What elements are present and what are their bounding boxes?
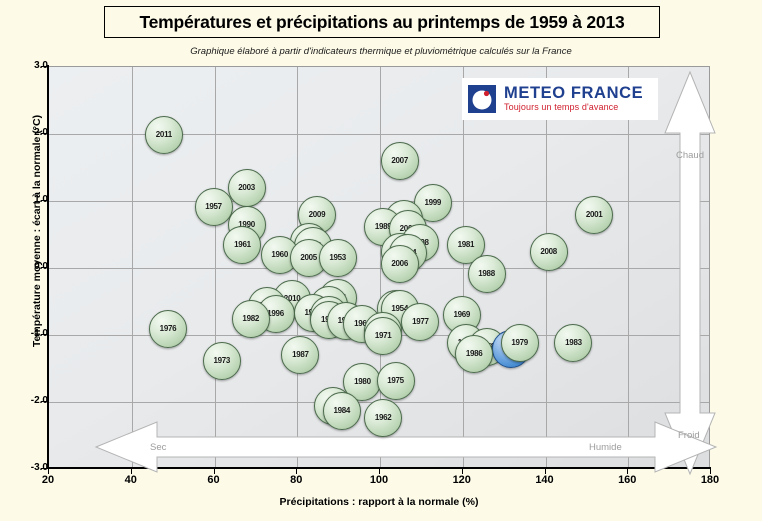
data-point-label: 1977 (412, 318, 429, 326)
data-point-label: 1961 (234, 241, 251, 249)
data-point-label: 1976 (160, 325, 177, 333)
arrow-label-froid: Froid (678, 430, 700, 441)
gridline-vertical (628, 67, 629, 467)
data-point-bubble[interactable]: 1988 (468, 255, 506, 293)
data-point-bubble[interactable]: 1953 (319, 239, 357, 277)
arrow-label-sec: Sec (150, 442, 166, 453)
data-point-label: 1973 (213, 357, 230, 365)
data-point-label: 2007 (391, 157, 408, 165)
data-point-label: 1986 (466, 350, 483, 358)
data-point-label: 2006 (391, 260, 408, 268)
data-point-label: 1975 (387, 377, 404, 385)
data-point-bubble[interactable]: 2003 (228, 169, 266, 207)
x-tick-label: 120 (442, 474, 482, 486)
data-point-bubble[interactable]: 2008 (530, 233, 568, 271)
x-tick-mark (710, 468, 711, 474)
x-tick-label: 180 (690, 474, 730, 486)
data-point-label: 1983 (565, 339, 582, 347)
x-tick-mark (296, 468, 297, 474)
data-point-label: 2008 (540, 248, 557, 256)
x-tick-label: 160 (607, 474, 647, 486)
meteo-france-logo-icon (468, 85, 496, 113)
chart-root: Températures et précipitations au printe… (0, 0, 762, 521)
data-point-bubble[interactable]: 1983 (554, 324, 592, 362)
data-point-bubble[interactable]: 1973 (203, 342, 241, 380)
data-point-bubble[interactable]: 1986 (455, 335, 493, 373)
x-tick-label: 40 (111, 474, 151, 486)
data-point-label: 1996 (267, 310, 284, 318)
logo-brand-name: METEO FRANCE (504, 85, 643, 102)
data-point-label: 1969 (453, 311, 470, 319)
chart-subtitle: Graphique élaboré à partir d'indicateurs… (0, 46, 762, 57)
data-point-label: 1957 (205, 203, 222, 211)
gridline-horizontal (49, 268, 709, 269)
data-point-label: 1999 (424, 199, 441, 207)
x-tick-label: 80 (276, 474, 316, 486)
arrow-label-humide: Humide (589, 442, 622, 453)
x-tick-mark (214, 468, 215, 474)
x-tick-mark (462, 468, 463, 474)
gridline-vertical (463, 67, 464, 467)
data-point-label: 1971 (375, 332, 392, 340)
data-point-label: 1987 (292, 351, 309, 359)
data-point-label: 1988 (478, 270, 495, 278)
data-point-bubble[interactable]: 1971 (364, 317, 402, 355)
x-tick-label: 20 (28, 474, 68, 486)
data-point-label: 1982 (242, 315, 259, 323)
gridline-vertical (215, 67, 216, 467)
y-axis-title: Température moyenne : écart à la normale… (31, 31, 43, 431)
data-point-label: 1962 (375, 414, 392, 422)
data-point-label: 1953 (329, 254, 346, 262)
y-tick-mark (41, 468, 48, 469)
data-point-label: 1960 (271, 251, 288, 259)
x-tick-mark (627, 468, 628, 474)
data-point-label: 1979 (511, 339, 528, 347)
data-point-label: 1981 (458, 241, 475, 249)
x-axis-title: Précipitations : rapport à la normale (%… (48, 496, 710, 508)
data-point-label: 2005 (300, 254, 317, 262)
logo-slogan: Toujours un temps d'avance (504, 103, 643, 113)
chart-title-box: Températures et précipitations au printe… (104, 6, 660, 38)
data-point-bubble[interactable]: 2006 (381, 245, 419, 283)
data-point-bubble[interactable]: 1984 (323, 392, 361, 430)
data-point-bubble[interactable]: 1976 (149, 310, 187, 348)
x-tick-label: 60 (194, 474, 234, 486)
x-tick-mark (48, 468, 49, 474)
data-point-bubble[interactable]: 1979 (501, 324, 539, 362)
data-point-bubble[interactable]: 1962 (364, 399, 402, 437)
page-title: Températures et précipitations au printe… (139, 12, 624, 33)
gridline-vertical (132, 67, 133, 467)
data-point-label: 2001 (586, 211, 603, 219)
data-point-label: 2003 (238, 184, 255, 192)
x-tick-label: 100 (359, 474, 399, 486)
data-point-label: 1984 (333, 407, 350, 415)
data-point-bubble[interactable]: 1982 (232, 300, 270, 338)
data-point-label: 2011 (156, 131, 172, 139)
data-point-bubble[interactable]: 2011 (145, 116, 183, 154)
x-tick-mark (379, 468, 380, 474)
gridline-horizontal (49, 201, 709, 202)
arrow-label-chaud: Chaud (676, 150, 704, 161)
data-point-bubble[interactable]: 1975 (377, 362, 415, 400)
data-point-bubble[interactable]: 1957 (195, 188, 233, 226)
data-point-bubble[interactable]: 2007 (381, 142, 419, 180)
data-point-bubble[interactable]: 2001 (575, 196, 613, 234)
data-point-label: 1980 (354, 378, 371, 386)
x-tick-mark (545, 468, 546, 474)
data-point-label: 2009 (309, 211, 326, 219)
x-tick-mark (131, 468, 132, 474)
x-tick-label: 140 (525, 474, 565, 486)
meteo-france-logo: METEO FRANCE Toujours un temps d'avance (462, 78, 658, 120)
logo-text: METEO FRANCE Toujours un temps d'avance (504, 85, 643, 113)
